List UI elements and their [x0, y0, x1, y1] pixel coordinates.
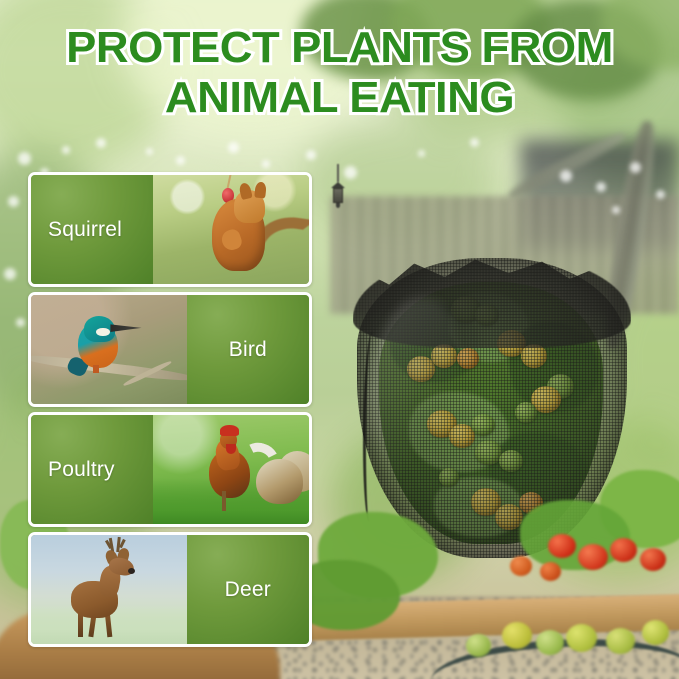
animal-photo-deer — [31, 535, 187, 644]
label-panel-squirrel: Squirrel — [31, 175, 153, 284]
label-panel-bird: Bird — [187, 295, 309, 404]
animal-label-bird: Bird — [229, 338, 267, 362]
animal-label-poultry: Poultry — [31, 458, 115, 482]
label-panel-poultry: Poultry — [31, 415, 153, 524]
animal-card-poultry[interactable]: Poultry — [28, 412, 312, 527]
animal-card-deer[interactable]: Deer — [28, 532, 312, 647]
animal-card-bird[interactable]: Bird — [28, 292, 312, 407]
animal-photo-squirrel — [153, 175, 309, 284]
tree-canopy — [300, 0, 679, 170]
label-panel-deer: Deer — [187, 535, 309, 644]
promo-banner: PROTECT PLANTS FROM ANIMAL EATING — [0, 0, 679, 679]
animal-card-squirrel[interactable]: Squirrel — [28, 172, 312, 287]
animal-label-deer: Deer — [225, 578, 271, 602]
animal-card-list: Squirrel — [28, 172, 312, 647]
mesh-side-seam — [363, 332, 379, 522]
lantern-icon — [330, 180, 346, 214]
animal-photo-poultry — [153, 415, 309, 524]
animal-label-squirrel: Squirrel — [31, 218, 122, 242]
animal-photo-bird — [31, 295, 187, 404]
